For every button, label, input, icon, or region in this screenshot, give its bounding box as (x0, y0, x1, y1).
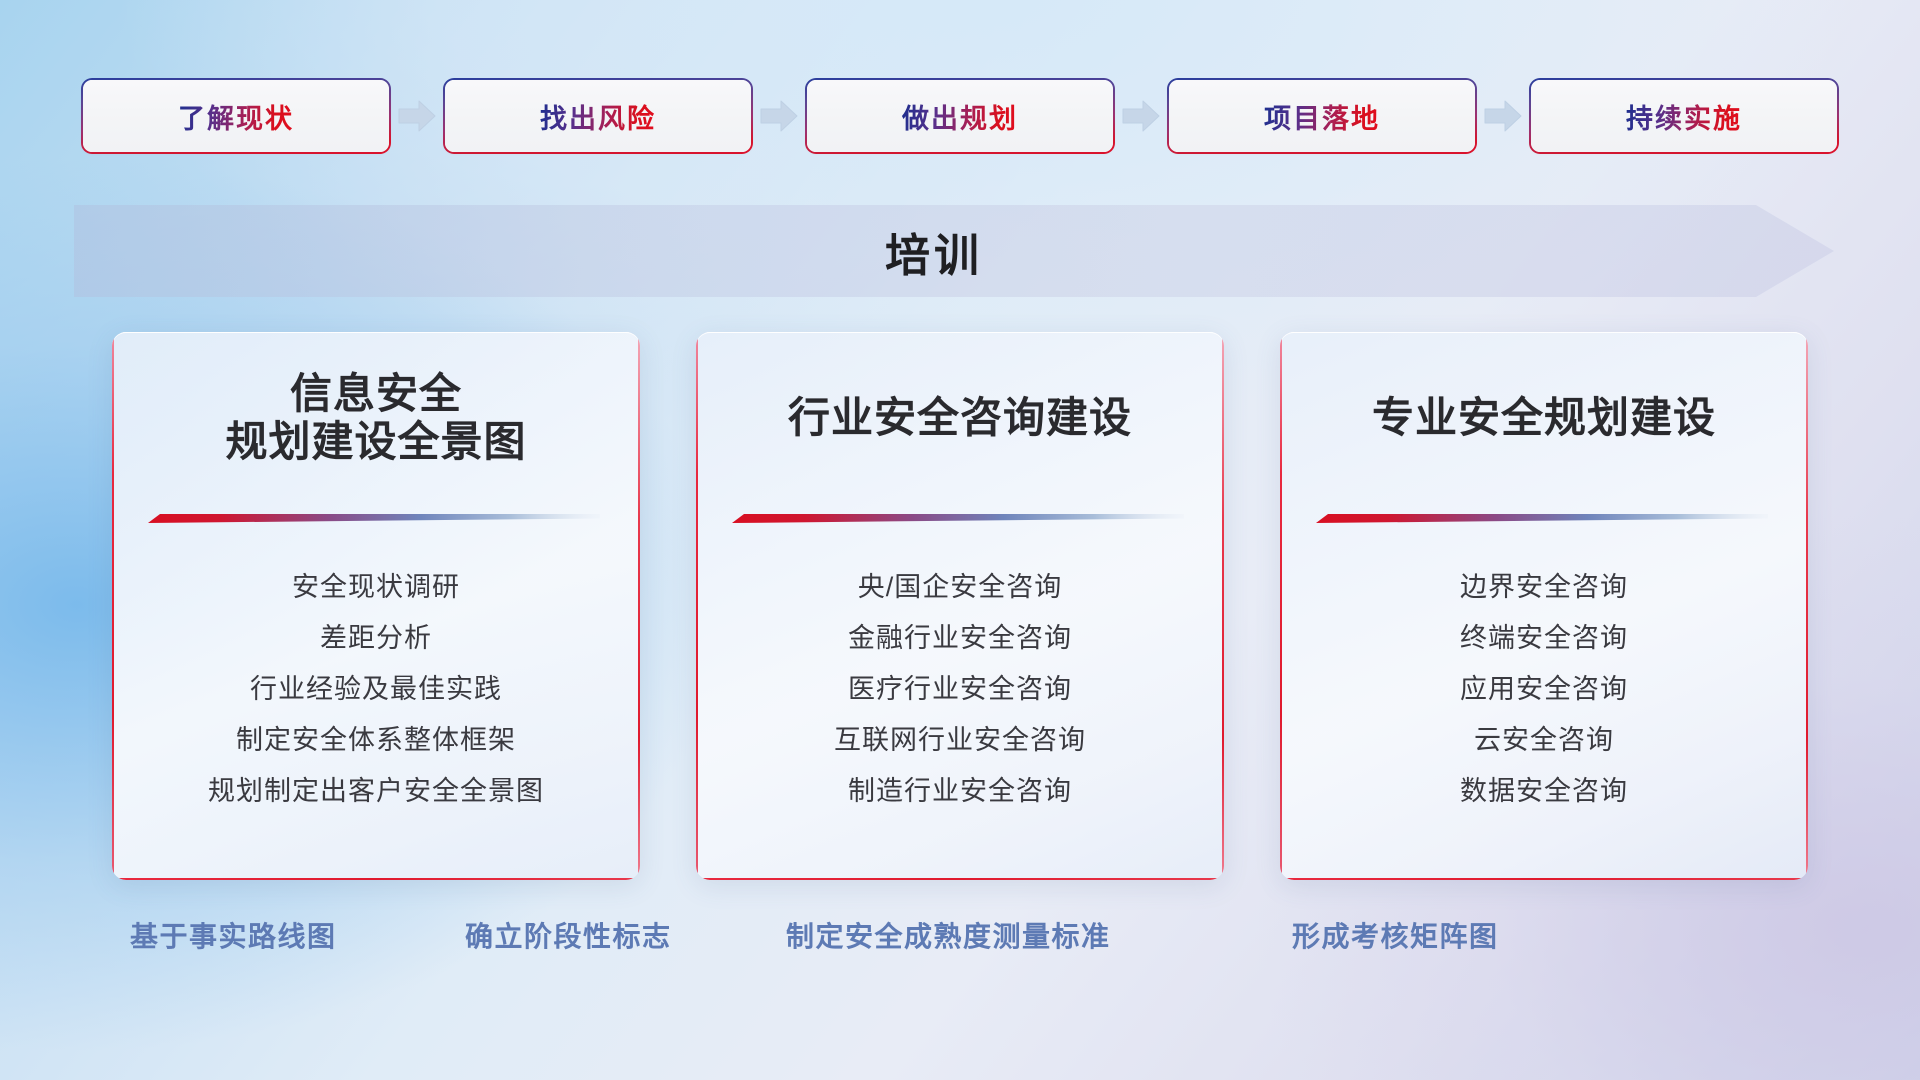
list-item: 数据安全咨询 (1460, 766, 1628, 817)
list-item: 规划制定出客户安全全景图 (208, 766, 544, 817)
step-label: 做出规划 (902, 97, 1018, 136)
card-bottom-edge (112, 878, 640, 880)
card-industry-security-consulting[interactable]: 行业安全咨询建设 央/国企安全咨询 金融行业安全咨询 (696, 332, 1224, 880)
list-item: 互联网行业安全咨询 (834, 715, 1086, 766)
list-item: 应用安全咨询 (1460, 664, 1628, 715)
card-list: 边界安全咨询 终端安全咨询 应用安全咨询 云安全咨询 数据安全咨询 (1280, 550, 1808, 854)
card-professional-security-planning[interactable]: 专业安全规划建设 边界安全咨询 终端安全咨询 (1280, 332, 1808, 880)
banner-title: 培训 (74, 205, 1834, 297)
card-title: 专业安全规划建设 (1280, 332, 1808, 504)
list-item: 制定安全体系整体框架 (236, 715, 516, 766)
list-item: 央/国企安全咨询 (858, 562, 1063, 613)
card-divider-accent (1308, 512, 1768, 525)
list-item: 金融行业安全咨询 (848, 613, 1072, 664)
footer-label-maturity-standard: 制定安全成熟度测量标准 (786, 905, 1111, 965)
card-title-line: 专业安全规划建设 (1372, 394, 1716, 442)
step-box-1[interactable]: 了解现状 (83, 80, 389, 152)
list-item: 边界安全咨询 (1460, 562, 1628, 613)
list-item: 终端安全咨询 (1460, 613, 1628, 664)
card-title-line: 信息安全 (290, 370, 462, 418)
card-bottom-edge (696, 878, 1224, 880)
card-title: 信息安全 规划建设全景图 (112, 332, 640, 504)
step-box-5[interactable]: 持续实施 (1531, 80, 1837, 152)
card-title-line: 规划建设全景图 (225, 418, 526, 466)
list-item: 安全现状调研 (292, 562, 460, 613)
step-label: 找出风险 (540, 97, 656, 136)
list-item: 行业经验及最佳实践 (250, 664, 502, 715)
list-item: 医疗行业安全咨询 (848, 664, 1072, 715)
step-label: 持续实施 (1626, 97, 1742, 136)
footer-label-assessment-matrix: 形成考核矩阵图 (1292, 905, 1499, 965)
step-box-4[interactable]: 项目落地 (1169, 80, 1475, 152)
card-list: 央/国企安全咨询 金融行业安全咨询 医疗行业安全咨询 互联网行业安全咨询 制造行… (696, 550, 1224, 854)
footer-label-row: 基于事实路线图 确立阶段性标志 制定安全成熟度测量标准 形成考核矩阵图 (0, 905, 1920, 965)
step-box-3[interactable]: 做出规划 (807, 80, 1113, 152)
arrow-right-icon (1475, 79, 1531, 153)
card-title: 行业安全咨询建设 (696, 332, 1224, 504)
card-title-line: 行业安全咨询建设 (788, 394, 1132, 442)
list-item: 差距分析 (320, 613, 432, 664)
arrow-right-icon (751, 79, 807, 153)
card-row: 信息安全 规划建设全景图 安全现状调研 差 (0, 332, 1920, 880)
step-box-2[interactable]: 找出风险 (445, 80, 751, 152)
footer-label-milestones: 确立阶段性标志 (465, 905, 672, 965)
card-bottom-edge (1280, 878, 1808, 880)
card-information-security-blueprint[interactable]: 信息安全 规划建设全景图 安全现状调研 差 (112, 332, 640, 880)
step-label: 了解现状 (178, 97, 294, 136)
process-step-row: 了解现状 找出风险 做出规划 项目落地 持续实施 (0, 76, 1920, 156)
card-list: 安全现状调研 差距分析 行业经验及最佳实践 制定安全体系整体框架 规划制定出客户… (112, 550, 640, 854)
footer-label-roadmap: 基于事实路线图 (130, 905, 337, 965)
card-divider-accent (140, 512, 600, 525)
list-item: 制造行业安全咨询 (848, 766, 1072, 817)
step-label: 项目落地 (1264, 97, 1380, 136)
list-item: 云安全咨询 (1474, 715, 1614, 766)
arrow-right-icon (389, 79, 445, 153)
card-divider-accent (724, 512, 1184, 525)
arrow-right-icon (1113, 79, 1169, 153)
training-banner: 培训 (74, 205, 1834, 297)
